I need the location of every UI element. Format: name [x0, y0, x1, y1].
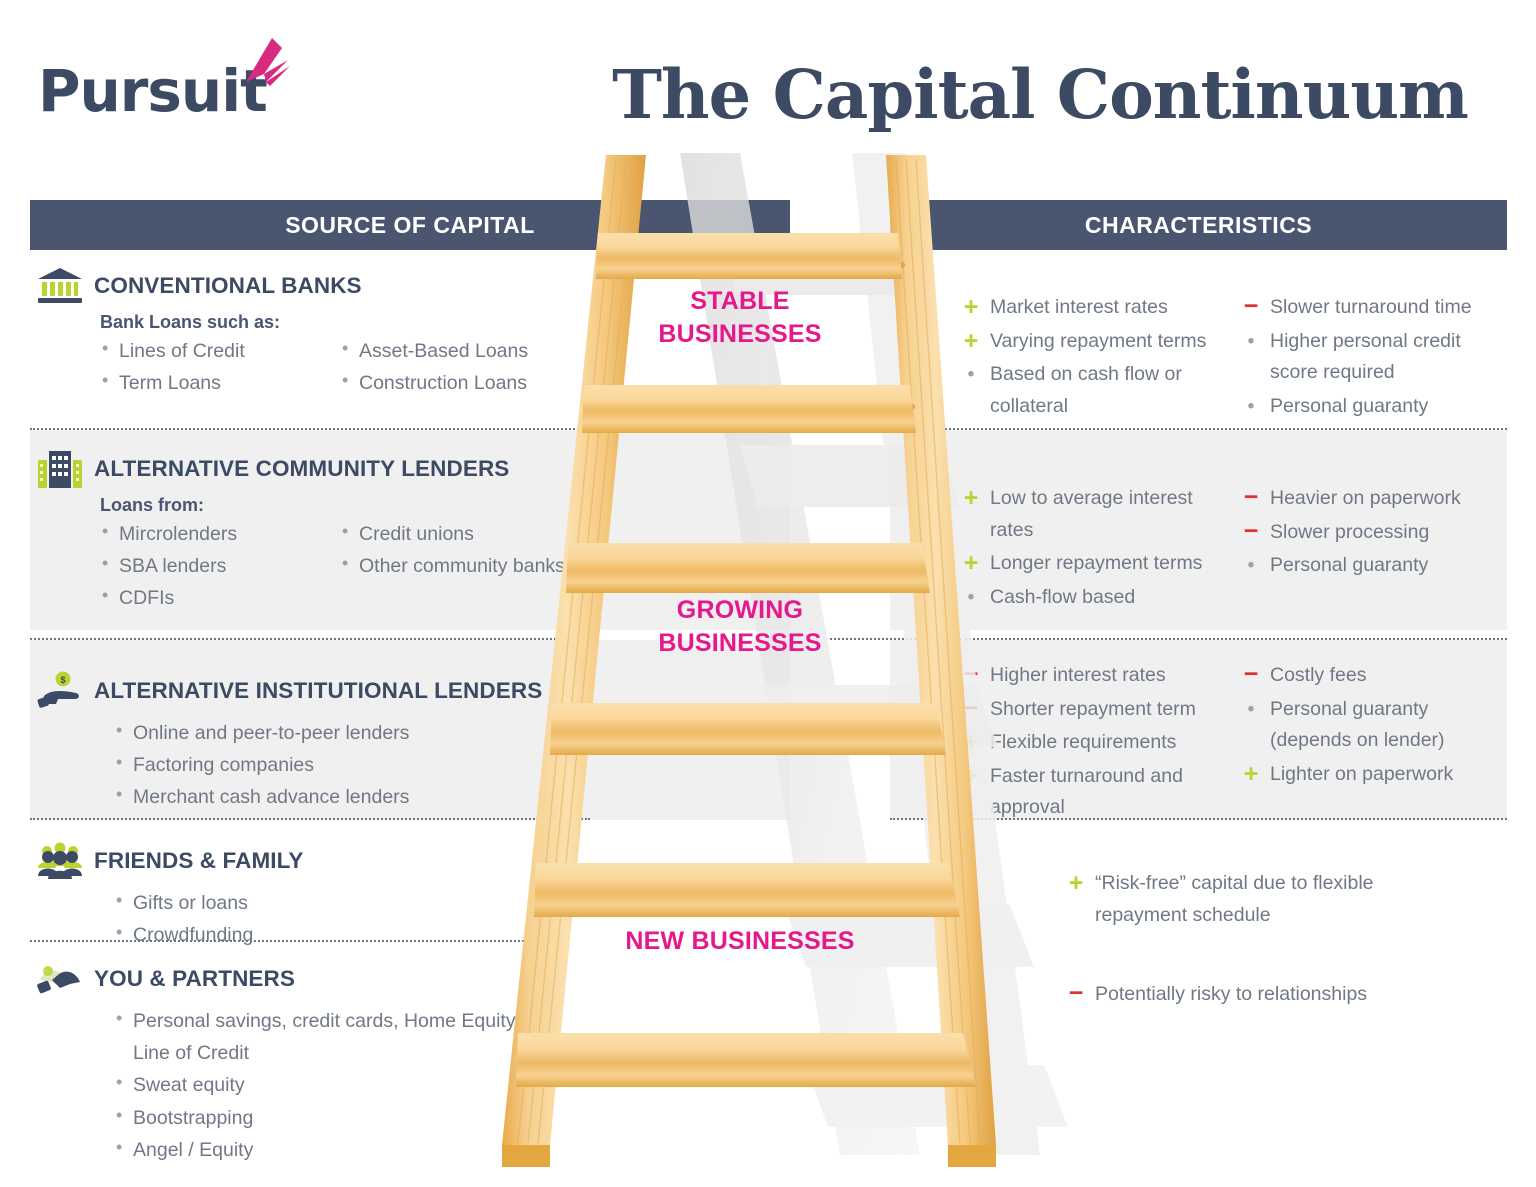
chars-friends-family-you-partners: +“Risk-free” capital due to flexible rep…: [1065, 868, 1485, 1013]
people-group-icon: [36, 840, 84, 882]
bullet-icon: •: [1240, 550, 1262, 581]
plus-icon: +: [1240, 759, 1262, 790]
brand-logo: Pursuit: [38, 62, 267, 120]
list-item: Term Loans: [100, 367, 340, 399]
buildings-icon: [36, 448, 84, 490]
page-title: The Capital Continuum: [560, 60, 1520, 130]
stage-stable-line2: BUSINESSES: [620, 318, 860, 351]
stage-label-growing: GROWING BUSINESSES: [620, 594, 860, 659]
handshake-icon: [36, 958, 84, 1000]
section-title: YOU & PARTNERS: [94, 966, 295, 992]
minus-icon: −: [1240, 292, 1262, 320]
chars-column-2: −Costly fees •Personal guaranty (depends…: [1240, 660, 1500, 826]
stage-growing-line1: GROWING: [620, 594, 860, 627]
section-title: CONVENTIONAL BANKS: [94, 273, 362, 299]
characteristic-item: •Personal guaranty (depends on lender): [1240, 694, 1500, 757]
characteristic-item: −Potentially risky to relationships: [1065, 979, 1465, 1011]
stage-label-new: NEW BUSINESSES: [600, 925, 880, 958]
characteristic-item: •Higher personal credit score required: [1240, 326, 1500, 389]
list-item: Lines of Credit: [100, 335, 340, 367]
infographic-page: Pursuit The Capital Continuum: [0, 0, 1536, 1187]
characteristic-item: −Heavier on paperwork: [1240, 483, 1500, 515]
list-item: SBA lenders: [100, 550, 340, 582]
bank-icon: [36, 265, 84, 307]
list-column-1: Mircrolenders SBA lenders CDFIs: [100, 518, 340, 615]
minus-icon: −: [1240, 517, 1262, 545]
minus-icon: −: [1240, 483, 1262, 511]
characteristic-item: −Costly fees: [1240, 660, 1500, 692]
characteristic-item: −Slower processing: [1240, 517, 1500, 549]
list-item: Mircrolenders: [100, 518, 340, 550]
bullet-icon: •: [1240, 326, 1262, 357]
minus-icon: −: [1240, 660, 1262, 688]
stage-new-line1: NEW BUSINESSES: [600, 925, 880, 958]
chars-column-1: +“Risk-free” capital due to flexible rep…: [1065, 868, 1465, 1011]
characteristic-item: •Personal guaranty: [1240, 391, 1500, 423]
svg-text:$: $: [60, 675, 65, 685]
chars-column-2: −Slower turnaround time •Higher personal…: [1240, 292, 1500, 424]
chars-column-2: −Heavier on paperwork −Slower processing…: [1240, 483, 1500, 615]
bullet-icon: •: [1240, 694, 1262, 725]
characteristic-item: •Personal guaranty: [1240, 550, 1500, 582]
hand-money-icon: $: [36, 670, 84, 712]
characteristic-item: +Lighter on paperwork: [1240, 759, 1500, 791]
list-column-1: Lines of Credit Term Loans: [100, 335, 340, 399]
bullet-icon: •: [1240, 391, 1262, 422]
characteristic-item: +“Risk-free” capital due to flexible rep…: [1065, 868, 1465, 931]
list-item: CDFIs: [100, 582, 340, 614]
stage-stable-line1: STABLE: [620, 285, 860, 318]
stage-growing-line2: BUSINESSES: [620, 627, 860, 660]
stage-label-stable: STABLE BUSINESSES: [620, 285, 860, 350]
bird-icon: [230, 36, 296, 98]
characteristic-item: −Slower turnaround time: [1240, 292, 1500, 324]
section-title: FRIENDS & FAMILY: [94, 848, 304, 874]
